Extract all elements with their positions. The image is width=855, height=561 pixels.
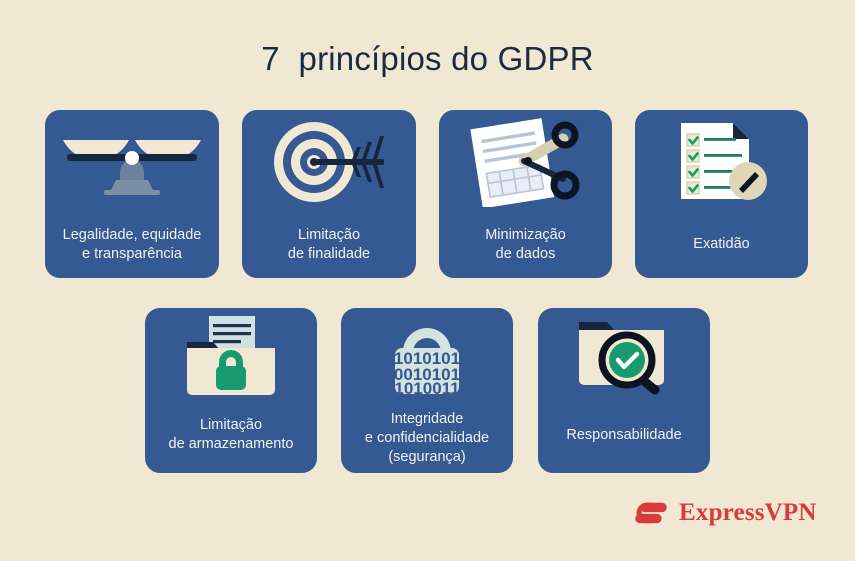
principle-label: Responsabilidade <box>560 426 687 445</box>
icon-container <box>45 110 219 214</box>
icon-container: 1010101 0010101 1010011 <box>341 308 513 404</box>
principle-label: Exatidão <box>687 235 755 254</box>
principle-label: Limitação de armazenamento <box>163 416 300 454</box>
principle-card-accountability[interactable]: Responsabilidade <box>538 308 710 473</box>
principle-card-data-minimization[interactable]: Minimização de dados <box>439 110 612 278</box>
principle-label: Limitação de finalidade <box>282 226 376 264</box>
folder-lock-icon <box>179 314 283 398</box>
expressvpn-logo[interactable]: ExpressVPN <box>634 496 817 530</box>
icon-container <box>538 308 710 404</box>
expressvpn-e-mark-icon <box>634 496 668 530</box>
principle-card-storage-limitation[interactable]: Limitação de armazenamento <box>145 308 317 473</box>
icon-container <box>145 308 317 404</box>
principle-label: Legalidade, equidade e transparência <box>57 226 208 264</box>
principle-label: Minimização de dados <box>479 226 572 264</box>
logo-text: ExpressVPN <box>679 499 817 527</box>
binary-row-3: 1010011 <box>394 379 459 398</box>
principle-card-purpose-limitation[interactable]: Limitação de finalidade <box>242 110 416 278</box>
principle-label: Integridade e confidencialidade (seguran… <box>359 410 495 467</box>
principle-card-legality[interactable]: Legalidade, equidade e transparência <box>45 110 219 278</box>
folder-magnifier-check-icon <box>571 316 677 396</box>
principle-card-integrity-confidentiality[interactable]: 1010101 0010101 1010011 Integridade e co… <box>341 308 513 473</box>
page-title: 7 princípios do GDPR <box>0 40 855 78</box>
principle-card-accuracy[interactable]: Exatidão <box>635 110 808 278</box>
document-scissors-icon <box>466 117 586 207</box>
balance-scales-icon <box>59 126 205 198</box>
icon-container <box>635 110 808 214</box>
icon-container <box>242 110 416 214</box>
icon-container <box>439 110 612 214</box>
infographic-canvas: 7 princípios do GDPR Legalidade, equidad… <box>0 0 855 561</box>
binary-padlock-icon: 1010101 0010101 1010011 <box>381 314 473 398</box>
target-arrow-icon <box>264 120 394 204</box>
checklist-pencil-icon <box>667 121 777 203</box>
